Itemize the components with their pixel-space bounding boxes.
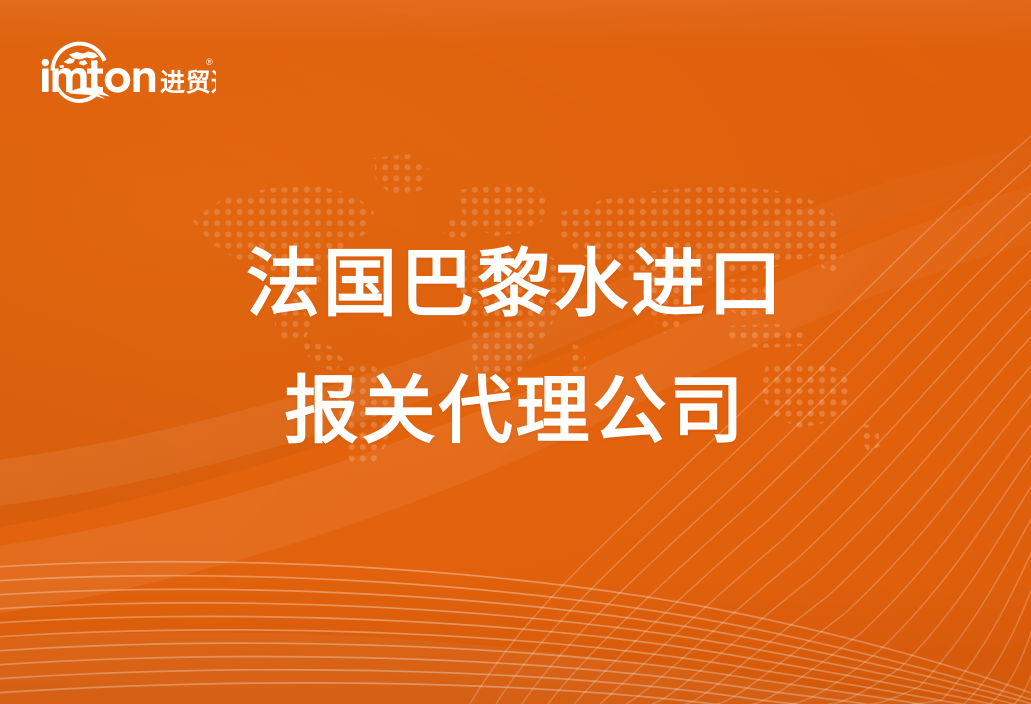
company-logo[interactable]: 进贸通 ® xyxy=(38,24,216,106)
headline-line-2: 报关代理公司 xyxy=(0,373,1031,448)
logo-chinese-text: 进贸通 xyxy=(160,68,216,97)
registered-mark: ® xyxy=(206,57,213,67)
headline-line-1: 法国巴黎水进口 xyxy=(0,246,1031,321)
promo-banner: 进贸通 ® 法国巴黎水进口 报关代理公司 xyxy=(0,0,1031,704)
page-title: 法国巴黎水进口 报关代理公司 xyxy=(0,246,1031,449)
